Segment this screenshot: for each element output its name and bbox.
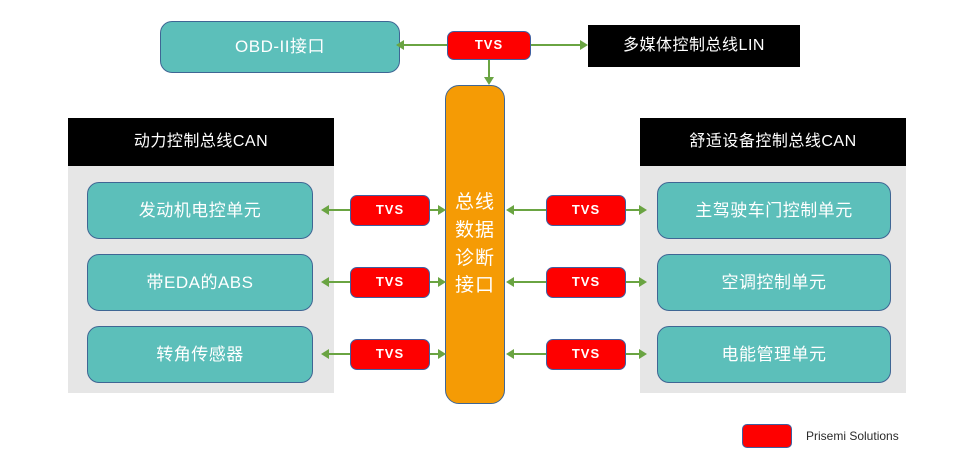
tvs-protector-left-2[interactable]: TVS [350, 267, 430, 298]
arrowhead-right-1-in [639, 205, 647, 215]
connector-left-1-out [328, 209, 350, 211]
tvs-label-left-3: TVS [376, 346, 404, 362]
tvs-label-right-2: TVS [572, 274, 600, 290]
arrowhead-to-hub [484, 77, 494, 85]
node-lin-bus-label: 多媒体控制总线LIN [623, 36, 765, 56]
connector-tvs-top-to-obd [404, 44, 447, 46]
right-item-2[interactable]: 空调控制单元 [657, 254, 891, 311]
tvs-protector-left-1[interactable]: TVS [350, 195, 430, 226]
arrowhead-right-3-out [506, 349, 514, 359]
left-item-3-label: 转角传感器 [156, 344, 244, 365]
arrowhead-to-lin [580, 40, 588, 50]
right-item-3-label: 电能管理单元 [722, 344, 827, 365]
node-bus-diagnostic-interface[interactable]: 总线数据诊断接口 [445, 85, 505, 404]
connector-left-3-out [328, 353, 350, 355]
arrowhead-right-1-out [506, 205, 514, 215]
left-item-2[interactable]: 带EDA的ABS [87, 254, 313, 311]
tvs-protector-right-1[interactable]: TVS [546, 195, 626, 226]
right-panel-header: 舒适设备控制总线CAN [640, 118, 906, 166]
node-lin-bus[interactable]: 多媒体控制总线LIN [588, 25, 800, 67]
connector-left-2-out [328, 281, 350, 283]
right-item-3[interactable]: 电能管理单元 [657, 326, 891, 383]
left-panel-header-label: 动力控制总线CAN [134, 132, 268, 152]
legend-swatch-icon [742, 424, 792, 448]
arrowhead-left-1-in [438, 205, 446, 215]
left-item-2-label: 带EDA的ABS [147, 272, 254, 293]
left-item-1[interactable]: 发动机电控单元 [87, 182, 313, 239]
arrowhead-left-3-in [438, 349, 446, 359]
arrowhead-to-obd [396, 40, 404, 50]
tvs-protector-right-2[interactable]: TVS [546, 267, 626, 298]
arrowhead-right-3-in [639, 349, 647, 359]
node-bus-diagnostic-label: 总线数据诊断接口 [453, 189, 497, 299]
left-panel-header: 动力控制总线CAN [68, 118, 334, 166]
diagram-canvas: OBD-II接口 多媒体控制总线LIN TVS 总线数据诊断接口 动力控制总线C… [0, 0, 960, 466]
connector-right-3-in [626, 353, 640, 355]
left-item-3[interactable]: 转角传感器 [87, 326, 313, 383]
arrowhead-right-2-in [639, 277, 647, 287]
tvs-label-left-2: TVS [376, 274, 404, 290]
left-item-1-label: 发动机电控单元 [139, 200, 262, 221]
node-obd-ii-interface[interactable]: OBD-II接口 [160, 21, 400, 73]
tvs-label-right-1: TVS [572, 202, 600, 218]
arrowhead-left-2-out [321, 277, 329, 287]
tvs-protector-top[interactable]: TVS [447, 31, 531, 60]
connector-right-2-in [626, 281, 640, 283]
tvs-protector-left-3[interactable]: TVS [350, 339, 430, 370]
right-item-1[interactable]: 主驾驶车门控制单元 [657, 182, 891, 239]
connector-tvs-top-to-hub [488, 60, 490, 78]
tvs-label-right-3: TVS [572, 346, 600, 362]
node-obd-ii-label: OBD-II接口 [235, 36, 325, 57]
connector-right-3-out [513, 353, 546, 355]
right-item-1-label: 主驾驶车门控制单元 [695, 200, 853, 221]
tvs-label-top: TVS [475, 37, 503, 53]
arrowhead-left-2-in [438, 277, 446, 287]
legend: Prisemi Solutions [742, 424, 899, 448]
arrowhead-left-1-out [321, 205, 329, 215]
connector-right-1-out [513, 209, 546, 211]
tvs-protector-right-3[interactable]: TVS [546, 339, 626, 370]
arrowhead-right-2-out [506, 277, 514, 287]
right-item-2-label: 空调控制单元 [722, 272, 827, 293]
connector-tvs-top-to-lin [531, 44, 580, 46]
connector-right-2-out [513, 281, 546, 283]
legend-label: Prisemi Solutions [806, 429, 899, 443]
tvs-label-left-1: TVS [376, 202, 404, 218]
right-panel-header-label: 舒适设备控制总线CAN [689, 132, 856, 152]
connector-right-1-in [626, 209, 640, 211]
arrowhead-left-3-out [321, 349, 329, 359]
